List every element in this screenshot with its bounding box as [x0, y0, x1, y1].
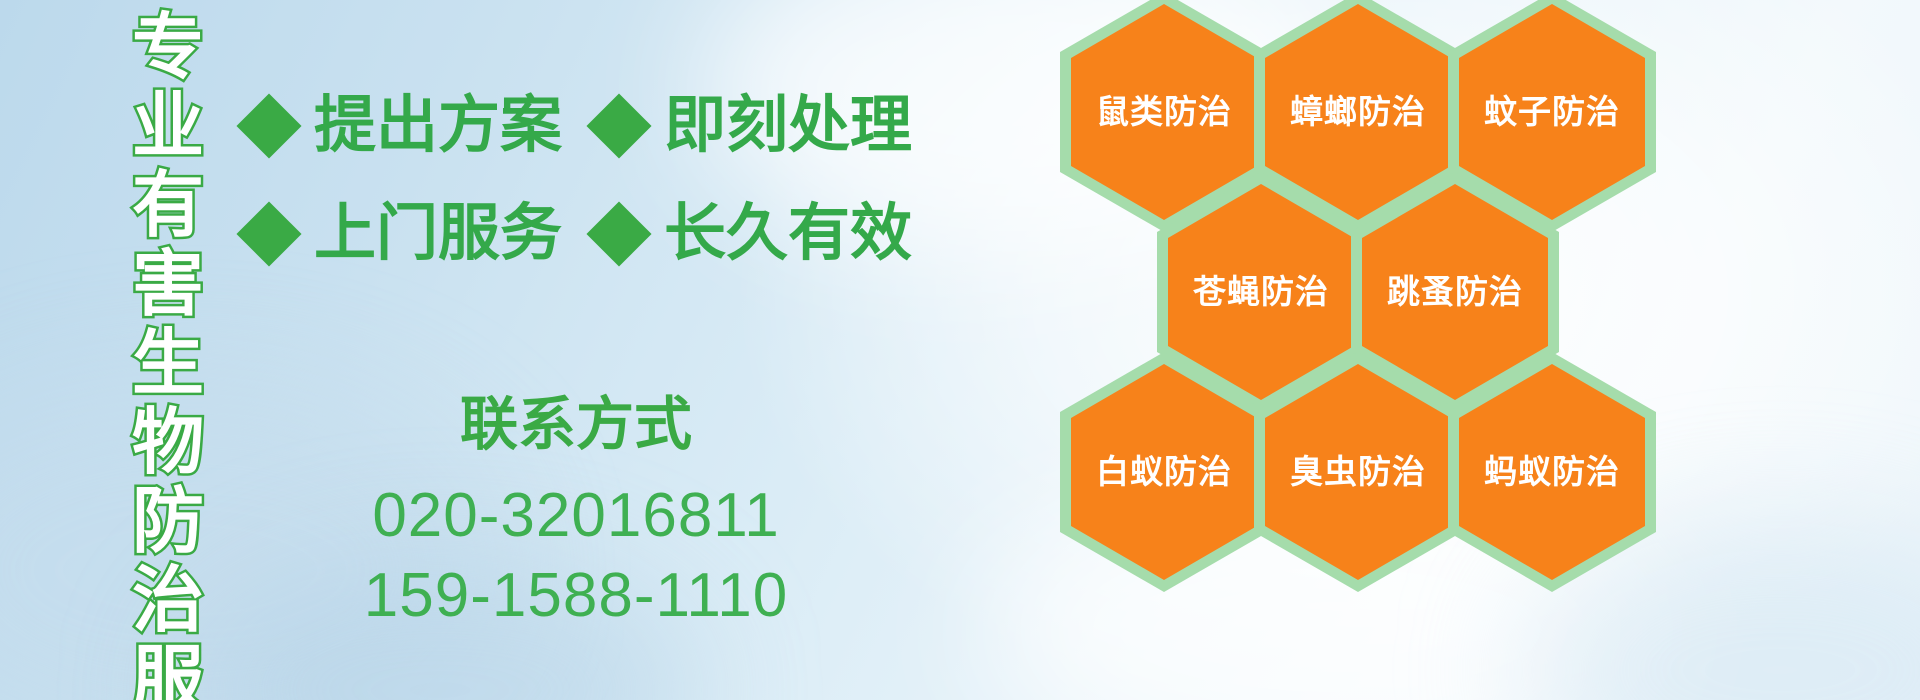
contact-heading: 联系方式 — [246, 388, 906, 462]
diamond-icon — [236, 201, 301, 266]
diamond-icon — [236, 93, 301, 158]
vertical-headline-char: 有 — [132, 170, 204, 242]
contact-block: 联系方式 020-32016811 159-1588-1110 — [246, 388, 906, 636]
service-label: 蚂蚁防治 — [1484, 453, 1620, 491]
hex-inner: 蟑螂防治 — [1265, 4, 1451, 220]
diamond-icon — [586, 93, 651, 158]
feature-label: 长久有效 — [664, 199, 912, 269]
vertical-headline-char: 业 — [132, 91, 204, 163]
contact-phone-mobile[interactable]: 159-1588-1110 — [246, 556, 906, 636]
feature-item: 上门服务 — [246, 199, 562, 269]
vertical-headline-char: 治 — [132, 565, 204, 637]
service-label: 跳蚤防治 — [1387, 273, 1523, 311]
service-label: 蟑螂防治 — [1290, 93, 1426, 131]
vertical-headline-char: 防 — [132, 486, 204, 558]
feature-item: 提出方案 — [246, 91, 562, 161]
pest-control-banner: 专 业 有 害 生 物 防 治 服 务 提出方案 即刻处理 上门服务 — [0, 0, 1920, 700]
hex-inner: 蚂蚁防治 — [1459, 364, 1645, 580]
feature-label: 即刻处理 — [664, 91, 912, 161]
hex-inner: 臭虫防治 — [1265, 364, 1451, 580]
service-label: 白蚁防治 — [1096, 453, 1232, 491]
vertical-headline-char: 服 — [132, 644, 204, 700]
feature-label: 上门服务 — [314, 199, 562, 269]
hex-inner: 蚊子防治 — [1459, 4, 1645, 220]
vertical-headline-char: 专 — [132, 12, 204, 84]
vertical-headline-char: 生 — [132, 328, 204, 400]
service-label: 臭虫防治 — [1290, 453, 1426, 491]
vertical-headline-char: 物 — [132, 407, 204, 479]
feature-row: 提出方案 即刻处理 — [246, 84, 886, 168]
feature-label: 提出方案 — [314, 91, 562, 161]
contact-phone-landline[interactable]: 020-32016811 — [246, 476, 906, 556]
diamond-icon — [586, 201, 651, 266]
service-honeycomb: 鼠类防治 蟑螂防治 蚊子防治 苍蝇防治 跳蚤防治 白蚁防治 — [1060, 0, 1800, 700]
feature-item: 长久有效 — [596, 199, 912, 269]
service-label: 苍蝇防治 — [1193, 273, 1329, 311]
hex-inner: 鼠类防治 — [1071, 4, 1257, 220]
hex-inner: 跳蚤防治 — [1362, 184, 1548, 400]
feature-list: 提出方案 即刻处理 上门服务 长久有效 — [246, 84, 886, 300]
vertical-headline-char: 害 — [132, 249, 204, 321]
hex-inner: 苍蝇防治 — [1168, 184, 1354, 400]
feature-item: 即刻处理 — [596, 91, 912, 161]
service-label: 鼠类防治 — [1096, 93, 1232, 131]
service-label: 蚊子防治 — [1484, 93, 1620, 131]
vertical-headline: 专 业 有 害 生 物 防 治 服 务 — [112, 12, 224, 688]
feature-row: 上门服务 长久有效 — [246, 192, 886, 276]
hex-inner: 白蚁防治 — [1071, 364, 1257, 580]
